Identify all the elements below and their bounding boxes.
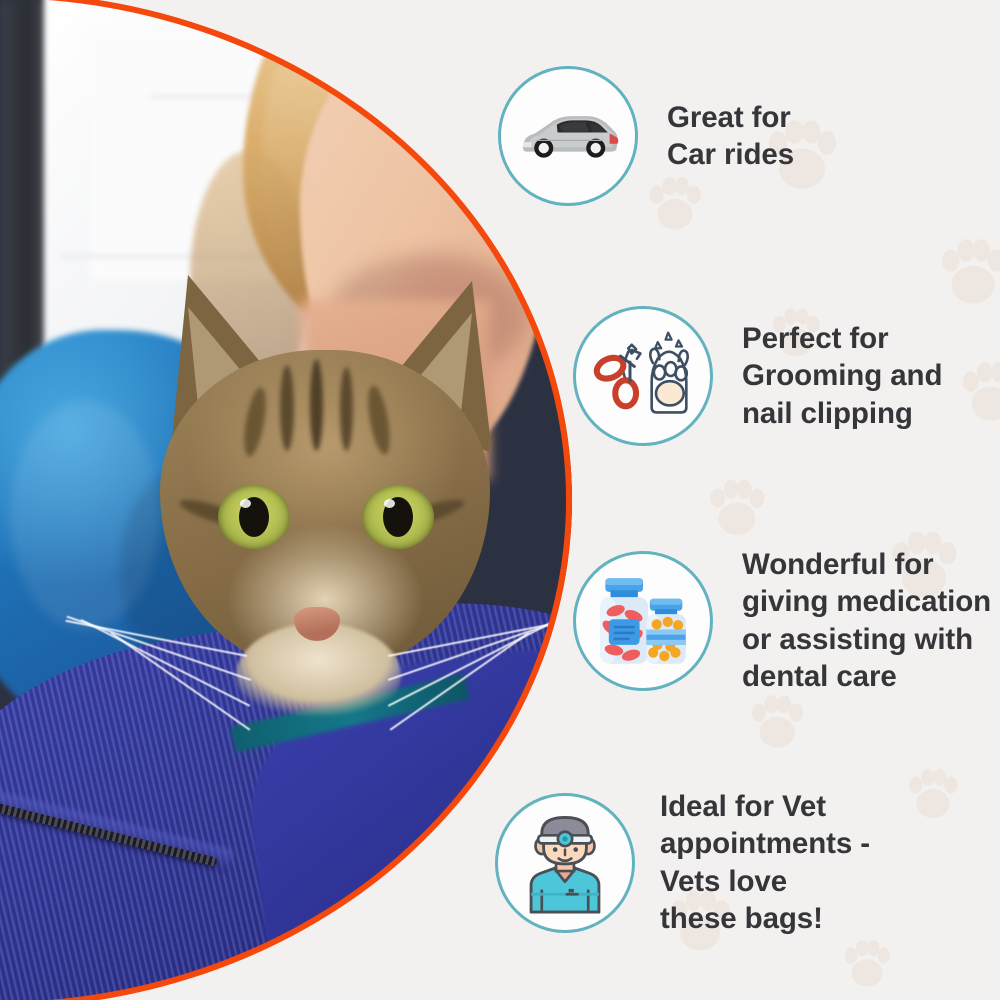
feature-item-vet: Ideal for Vet appointments - Vets love t… <box>495 788 870 938</box>
feature-label: Perfect for Grooming and nail clipping <box>742 320 942 432</box>
feature-icon-circle <box>573 306 713 446</box>
feature-label: Great for Car rides <box>667 99 794 174</box>
veterinarian-icon <box>515 812 615 914</box>
feature-label: Wonderful for giving medication or assis… <box>742 546 991 696</box>
feature-list: Great for Car rides <box>0 0 1000 1000</box>
feature-icon-circle <box>498 66 638 206</box>
feature-icon-circle <box>573 551 713 691</box>
medication-bottles-icon <box>590 571 696 671</box>
nail-clippers-paw-icon <box>591 327 695 425</box>
feature-icon-circle <box>495 793 635 933</box>
car-icon <box>516 106 620 166</box>
feature-item-car-rides: Great for Car rides <box>498 66 794 206</box>
feature-item-grooming: Perfect for Grooming and nail clipping <box>573 306 942 446</box>
feature-item-medication: Wonderful for giving medication or assis… <box>573 546 991 696</box>
infographic-canvas: Great for Car rides <box>0 0 1000 1000</box>
feature-label: Ideal for Vet appointments - Vets love t… <box>660 788 870 938</box>
